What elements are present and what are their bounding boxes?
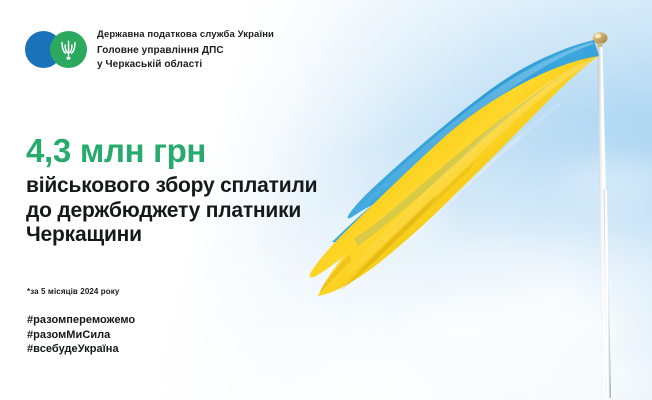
tryzub-icon	[59, 39, 78, 61]
hashtag-item: #разомМиСила	[27, 328, 135, 343]
headline-subtitle-line-1: військового збору сплатили	[26, 174, 366, 199]
headline-amount: 4,3 млн грн	[26, 132, 366, 169]
hashtag-list: #разомпереможемо #разомМиСила #всебудеУк…	[27, 313, 135, 357]
poster-root: Державна податкова служба України Головн…	[0, 0, 652, 400]
logo-line-1: Державна податкова служба України	[97, 28, 274, 41]
headline-subtitle-line-3: Черкащини	[26, 223, 366, 248]
logo-line-2: Головне управління ДПС	[97, 44, 274, 58]
logo-line-3: у Черкаській області	[97, 58, 274, 72]
footnote: *за 5 місяців 2024 року	[27, 287, 119, 296]
green-circle-trident-mark	[50, 31, 87, 68]
headline-subtitle-line-2: до держбюджету платники	[26, 199, 366, 224]
hashtag-item: #всебудеУкраїна	[27, 342, 135, 357]
logo-text-block: Державна податкова служба України Головн…	[97, 28, 274, 71]
hashtag-item: #разомпереможемо	[27, 313, 135, 328]
headline-block: 4,3 млн грн військового збору сплатили д…	[26, 132, 366, 248]
logo-marks	[25, 31, 87, 68]
organization-logo: Державна податкова служба України Головн…	[25, 28, 274, 71]
headline-subtitle: військового збору сплатили до держбюджет…	[26, 174, 366, 248]
